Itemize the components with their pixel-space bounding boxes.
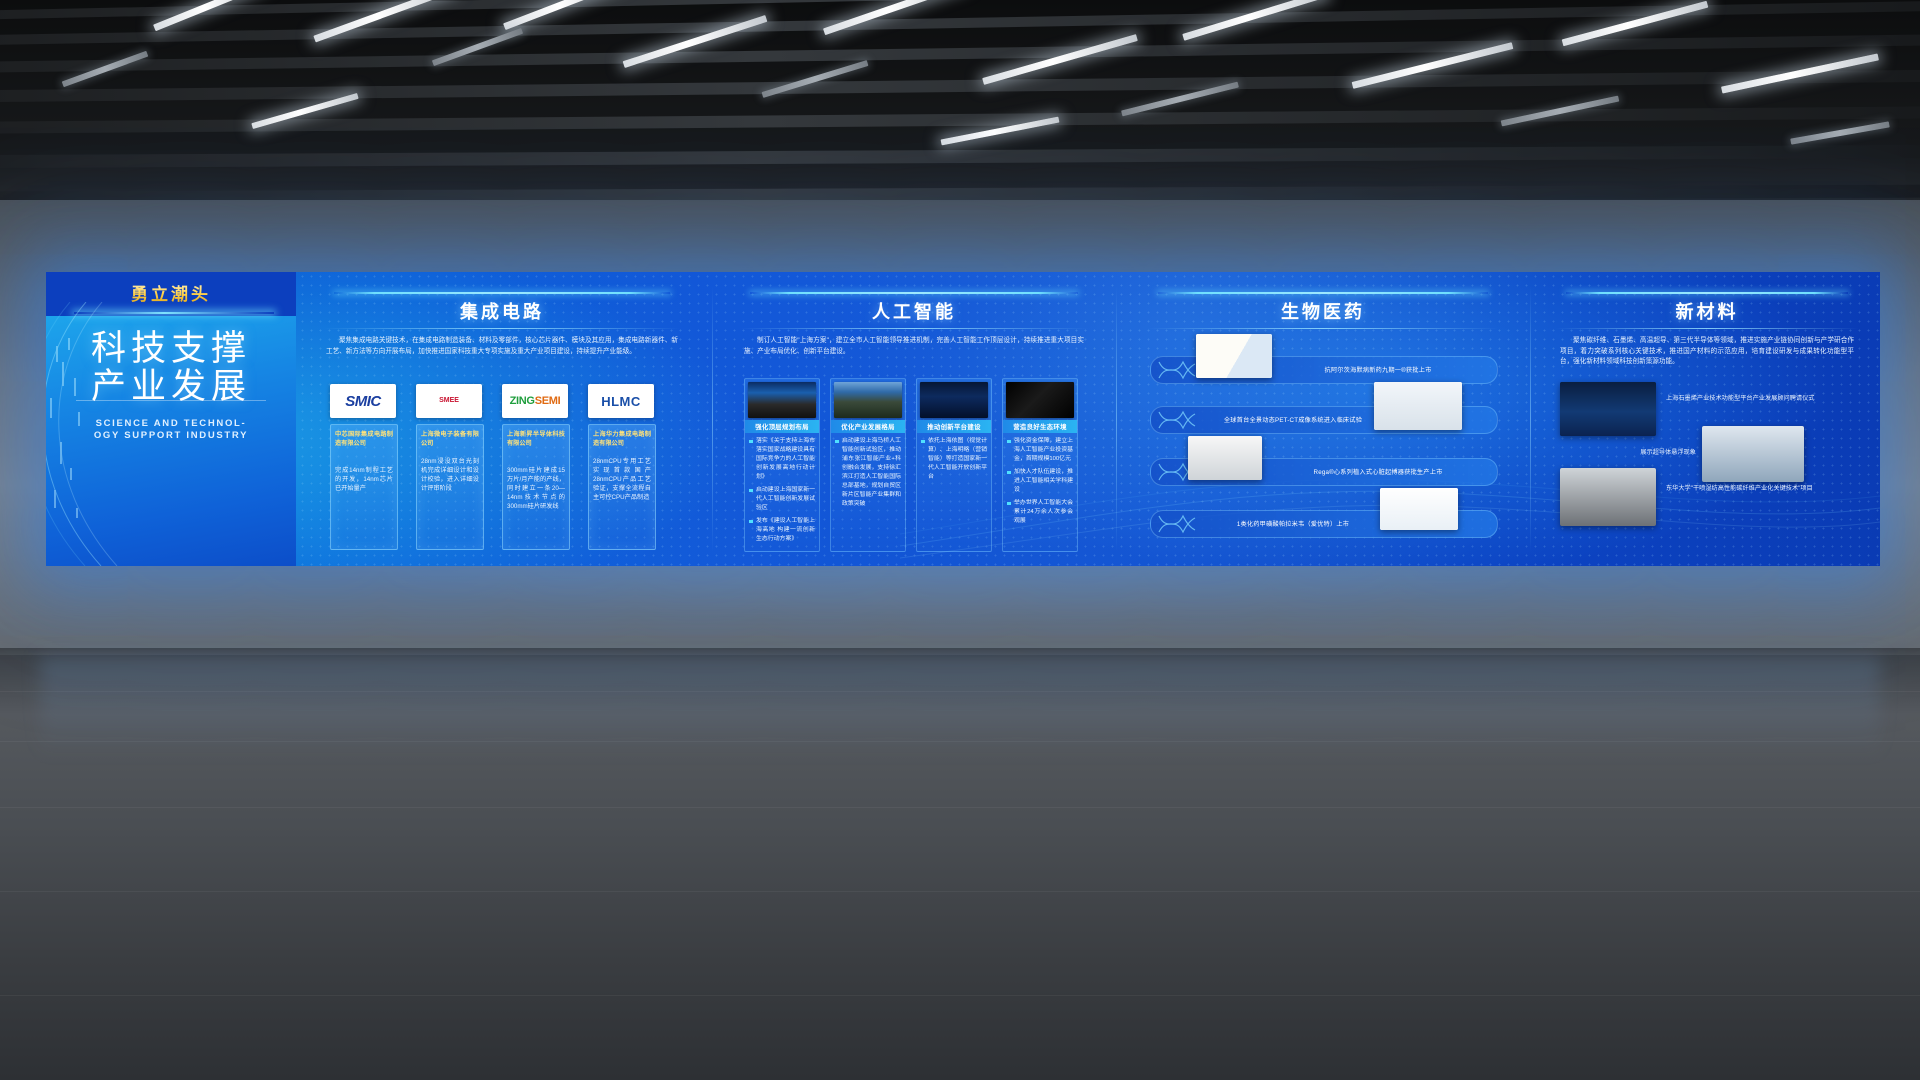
hero-english-line-2: OGY SUPPORT INDUSTRY bbox=[64, 430, 278, 442]
section-description-artificial-intelligence: 制订人工智能"上海方案"，建立全市人工智能领导推进机制，完善人工智能工作顶层设计… bbox=[744, 336, 1084, 357]
ai-bullet: 发布《建设人工智能上海高地 构建一流创新生态行动方案》 bbox=[749, 517, 815, 544]
dna-helix-icon bbox=[1157, 514, 1197, 534]
hlmc-logo[interactable]: HLMC bbox=[588, 384, 654, 418]
zingsemi-logo[interactable]: ZINGSEMI bbox=[502, 384, 568, 418]
ai-card-industry-layout[interactable]: 优化产业发展格局 启动建设上海马桥人工智能创新试验区，推动浦东张江智能产业+科创… bbox=[830, 378, 906, 552]
section-title-integrated-circuit: 集成电路 bbox=[304, 298, 700, 324]
conference-screen-photo bbox=[920, 382, 988, 418]
hero-title: 科技支撑 产业发展 bbox=[46, 330, 296, 406]
ai-bullet: 依托上海依图（视觉计算）、上海明略（营销智能）等打造国家新一代人工智能开放创新平… bbox=[921, 437, 987, 482]
ai-bullet: 落实《关于支持上海市落实国家战略建设具有国际竞争力的人工智能创新发展高地行动计划… bbox=[749, 437, 815, 482]
pet-ct-scanner-photo bbox=[1374, 382, 1462, 430]
section-divider-1 bbox=[712, 286, 713, 552]
ai-card-bullets: 强化资金保障，建立上海人工智能产业投资基金，首期规模100亿元 加快人才队伍建设… bbox=[1007, 437, 1073, 530]
waic-venue-photo bbox=[1006, 382, 1074, 418]
ai-card-innovation-platform[interactable]: 推动创新平台建设 依托上海依图（视觉计算）、上海明略（营销智能）等打造国家新一代… bbox=[916, 378, 992, 552]
ai-card-bullets: 落实《关于支持上海市落实国家战略建设具有国际竞争力的人工智能创新发展高地行动计划… bbox=[749, 437, 815, 548]
section-integrated-circuit: 集成电路 聚焦集成电路关键技术，在集成电路制造装备、材料及零部件，核心芯片器件、… bbox=[304, 272, 700, 566]
hero-english-line-1: SCIENCE AND TECHNOL- bbox=[64, 418, 278, 430]
section-artificial-intelligence: 人工智能 制订人工智能"上海方案"，建立全市人工智能领导推进机制，完善人工智能工… bbox=[724, 272, 1104, 566]
dna-helix-icon bbox=[1157, 410, 1197, 430]
drug-box-photo bbox=[1196, 334, 1272, 378]
hero-english-subtitle: SCIENCE AND TECHNOL- OGY SUPPORT INDUSTR… bbox=[64, 418, 278, 442]
ai-bullet: 强化资金保障，建立上海人工智能产业投资基金，首期规模100亿元 bbox=[1007, 437, 1073, 464]
ic-card-heading: 中芯国际集成电路制造有限公司 bbox=[335, 430, 393, 448]
ic-card-body: 300mm硅片建成15万片/月产能的产线，同时建立一条20—14nm技术节点的3… bbox=[507, 466, 565, 511]
section-title-artificial-intelligence: 人工智能 bbox=[724, 298, 1104, 324]
ic-card-hlmc[interactable]: 上海华力集成电路制造有限公司 28nmCPU专用工艺实现首款国产28nmCPU产… bbox=[588, 424, 656, 550]
smic-logo[interactable]: SMIC bbox=[330, 384, 396, 418]
hero-title-line-1: 科技支撑 bbox=[46, 330, 296, 368]
hero-block: 勇立潮头 科技支撑 产业发展 SCIENCE AND TECHNOL- OGY … bbox=[46, 272, 296, 566]
ic-card-heading: 上海新昇半导体科技有限公司 bbox=[507, 430, 565, 448]
carbon-fiber-photo bbox=[1560, 468, 1656, 526]
ai-card-heading: 推动创新平台建设 bbox=[917, 420, 991, 433]
opening-ceremony-photo bbox=[834, 382, 902, 418]
ai-bullet: 启动建设上海国家新一代人工智能创新发展试验区 bbox=[749, 486, 815, 513]
ic-card-body: 28nmCPU专用工艺实现首款国产28nmCPU产品工艺验证，支撑全流程自主可控… bbox=[593, 457, 651, 502]
ic-card-smic[interactable]: 中芯国际集成电路制造有限公司 完成14nm制程工艺的开发，14nm芯片已开始量产 bbox=[330, 424, 398, 550]
signing-ceremony-photo bbox=[1560, 382, 1656, 436]
new-materials-caption-carbon-fiber: 东华大学"干喷湿纺高性能碳纤维产业化关键技术"项目 bbox=[1666, 484, 1856, 494]
ic-card-body: 28nm浸没双台光刻机完成详细设计和设计校验，进入详细设计评审阶段 bbox=[421, 457, 479, 493]
new-materials-caption-superconductor: 展示超导体悬浮现象 bbox=[1560, 448, 1696, 458]
superconductor-demo-photo bbox=[1702, 426, 1804, 482]
ai-card-ecosystem[interactable]: 营造良好生态环境 强化资金保障，建立上海人工智能产业投资基金，首期规模100亿元… bbox=[1002, 378, 1078, 552]
conference-hall-photo bbox=[748, 382, 816, 418]
ic-card-heading: 上海微电子装备有限公司 bbox=[421, 430, 479, 448]
ai-card-top-level-planning[interactable]: 强化顶层规划布局 落实《关于支持上海市落实国家战略建设具有国际竞争力的人工智能创… bbox=[744, 378, 820, 552]
smee-logo[interactable]: SMEE bbox=[416, 384, 482, 418]
ai-bullet: 加快人才队伍建设，推进人工智能相关学科建设 bbox=[1007, 468, 1073, 495]
ai-card-heading: 强化顶层规划布局 bbox=[745, 420, 819, 433]
exhibition-hall-scene: 勇立潮头 科技支撑 产业发展 SCIENCE AND TECHNOL- OGY … bbox=[0, 0, 1920, 1080]
ai-card-bullets: 依托上海依图（视觉计算）、上海明略（营销智能）等打造国家新一代人工智能开放创新平… bbox=[921, 437, 987, 486]
ai-bullet: 启动建设上海马桥人工智能创新试验区，推动浦东张江智能产业+科创融合发展，支持徐汇… bbox=[835, 437, 901, 509]
section-divider-3 bbox=[1530, 286, 1531, 552]
section-biomedicine: 生物医药 抗阿尔茨海默病新药九期一®获批上市 全球首台全景动态PET-CT成像系… bbox=[1128, 272, 1518, 566]
hero-title-line-2: 产业发展 bbox=[46, 368, 296, 406]
ai-bullet: 举办世界人工智能大会累计24万余人次参会观展 bbox=[1007, 499, 1073, 526]
section-description-new-materials: 聚焦碳纤维、石墨烯、高温超导、第三代半导体等领域，推进实施产业链协同创新与产学研… bbox=[1560, 336, 1854, 368]
led-display-wall: 勇立潮头 科技支撑 产业发展 SCIENCE AND TECHNOL- OGY … bbox=[46, 272, 1880, 566]
section-title-biomedicine: 生物医药 bbox=[1128, 298, 1518, 324]
section-title-new-materials: 新材料 bbox=[1542, 298, 1872, 324]
section-description-integrated-circuit: 聚焦集成电路关键技术，在集成电路制造装备、材料及零部件，核心芯片器件、模块及其应… bbox=[326, 336, 678, 357]
hero-kicker: 勇立潮头 bbox=[46, 280, 296, 305]
ai-card-bullets: 启动建设上海马桥人工智能创新试验区，推动浦东张江智能产业+科创融合发展，支持徐汇… bbox=[835, 437, 901, 513]
new-materials-caption-graphene: 上海石墨烯产业技术功能型平台产业发展顾问聘请仪式 bbox=[1666, 394, 1856, 404]
ic-card-heading: 上海华力集成电路制造有限公司 bbox=[593, 430, 651, 448]
section-new-materials: 新材料 聚焦碳纤维、石墨烯、高温超导、第三代半导体等领域，推进实施产业链协同创新… bbox=[1542, 272, 1872, 566]
ai-card-heading: 营造良好生态环境 bbox=[1003, 420, 1077, 433]
medicine-box-photo bbox=[1380, 488, 1458, 530]
ic-card-body: 完成14nm制程工艺的开发，14nm芯片已开始量产 bbox=[335, 466, 393, 493]
ic-card-zingsemi[interactable]: 上海新昇半导体科技有限公司 300mm硅片建成15万片/月产能的产线，同时建立一… bbox=[502, 424, 570, 550]
ic-card-smee[interactable]: 上海微电子装备有限公司 28nm浸没双台光刻机完成详细设计和设计校验，进入详细设… bbox=[416, 424, 484, 550]
section-divider-2 bbox=[1116, 286, 1117, 552]
floor-reflection bbox=[40, 656, 1880, 776]
pacemaker-photo bbox=[1188, 436, 1262, 480]
ai-card-heading: 优化产业发展格局 bbox=[831, 420, 905, 433]
dna-helix-icon bbox=[1157, 360, 1197, 380]
